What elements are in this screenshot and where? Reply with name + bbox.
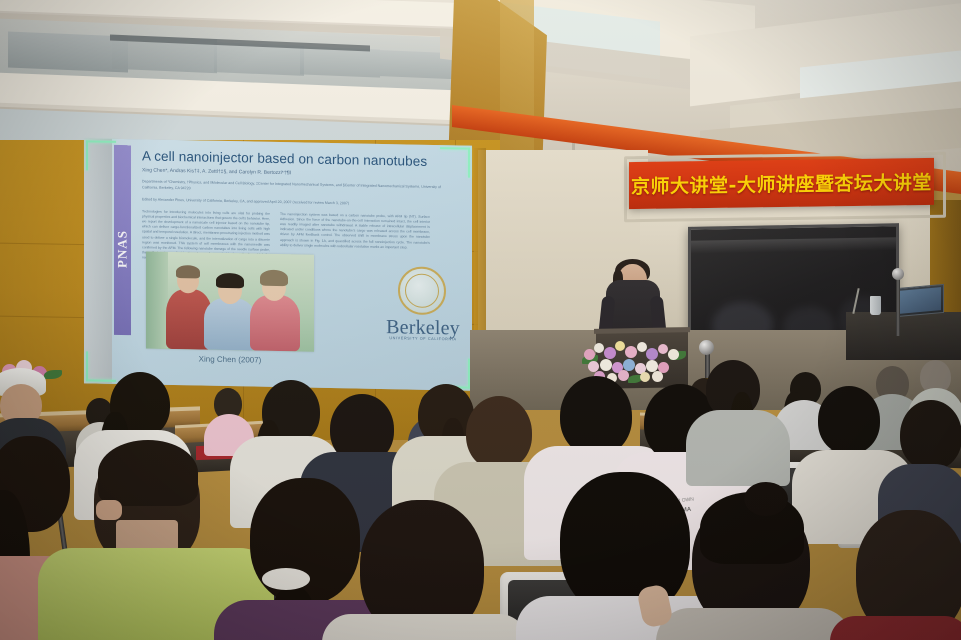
berkeley-subtext: UNIVERSITY OF CALIFORNIA — [380, 336, 466, 342]
hair-tie — [262, 568, 310, 590]
mic-head-right — [892, 268, 904, 280]
event-banner: 京师大讲堂-大师讲座暨杏坛大讲堂 — [629, 158, 934, 209]
screen-marker-tl-v — [86, 140, 88, 170]
screen-marker-tr-v — [468, 148, 470, 178]
mic-stand-right — [896, 278, 900, 336]
slide-authors: Xing Chen*, Andras Kis†‡, A. Zettl†‡§, a… — [142, 167, 432, 180]
wall-column — [474, 148, 486, 353]
projection-screen: PNAS A cell nanoinjector based on carbon… — [84, 138, 472, 390]
av-control-desk — [846, 312, 961, 360]
pnas-label: PNAS — [114, 179, 131, 319]
slide-edited-by: Edited by Alexander Pines, University of… — [142, 197, 442, 207]
slide-photo-caption: Xing Chen (2007) — [146, 353, 314, 365]
screen-marker-bl-v — [86, 351, 88, 381]
projected-slide: PNAS A cell nanoinjector based on carbon… — [84, 138, 472, 390]
uc-seal-icon — [398, 266, 446, 315]
mic-head-center — [699, 340, 714, 355]
hand — [96, 500, 122, 520]
banner-text: 京师大讲堂-大师讲座暨杏坛大讲堂 — [629, 158, 934, 209]
hair — [98, 440, 198, 506]
screen-left-edge — [84, 138, 112, 384]
slide-affiliation: Departments of *Chemistry, †Physics, and… — [142, 179, 442, 196]
slide-title: A cell nanoinjector based on carbon nano… — [142, 148, 442, 169]
laptop[interactable] — [896, 284, 944, 317]
cup — [870, 296, 881, 315]
slide-group-photo — [146, 251, 314, 351]
lecture-hall-photo: PNAS A cell nanoinjector based on carbon… — [0, 0, 961, 640]
